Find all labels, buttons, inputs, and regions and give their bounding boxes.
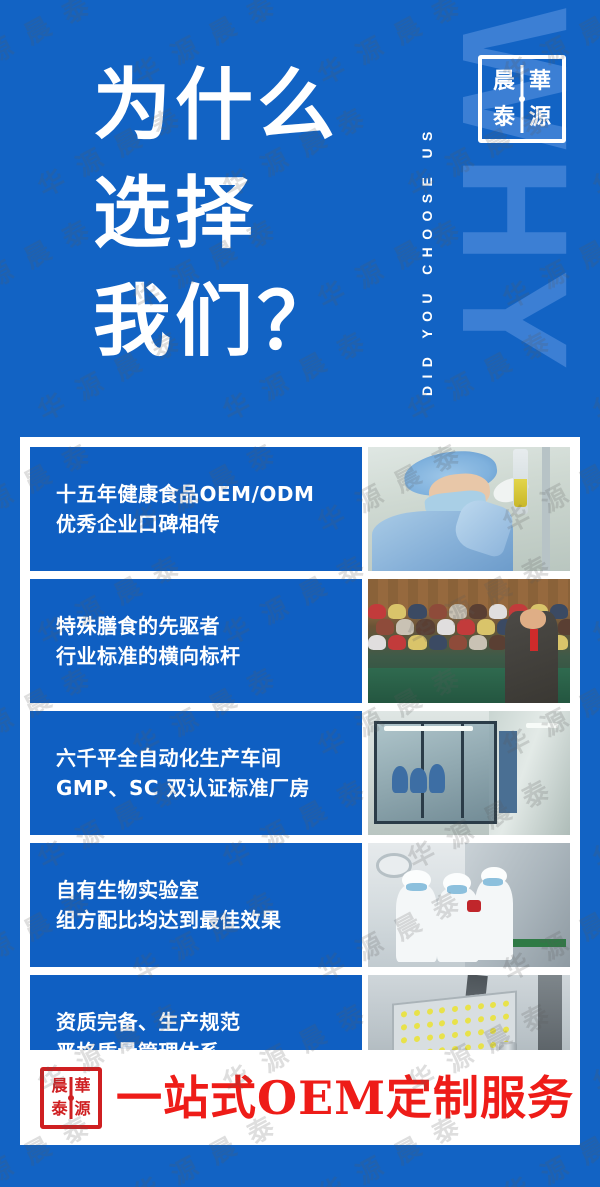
reason-line: 特殊膳食的先驱者 bbox=[56, 611, 362, 641]
reason-text-card: 十五年健康食品OEM/ODM 优秀企业口碑相传 bbox=[30, 447, 362, 571]
seal-center-dot bbox=[68, 1095, 74, 1101]
seal-char-hua: 華 bbox=[71, 1075, 94, 1098]
reason-text-card: 六千平全自动化生产车间 GMP、SC 双认证标准厂房 bbox=[30, 711, 362, 835]
reason-line: 组方配比均达到最佳效果 bbox=[56, 905, 362, 935]
reason-line: 六千平全自动化生产车间 bbox=[56, 743, 362, 773]
page-title-line-1: 为什么 bbox=[93, 52, 393, 160]
reason-line: 十五年健康食品OEM/ODM bbox=[56, 479, 362, 509]
seal-char-chen: 晨 bbox=[486, 63, 522, 99]
reason-text-card: 特殊膳食的先驱者 行业标准的横向标杆 bbox=[30, 579, 362, 703]
hero-section: 为什么 选择 我们？ DID YOU CHOOSE US 華 源 晨 泰 bbox=[0, 0, 600, 437]
reason-text-card: 自有生物实验室 组方配比均达到最佳效果 bbox=[30, 843, 362, 967]
seal-column-left: 晨 泰 bbox=[486, 63, 522, 135]
reason-row: 十五年健康食品OEM/ODM 优秀企业口碑相传 bbox=[30, 447, 570, 571]
service-banner: 華 源 晨 泰 一站式OEM定制服务 bbox=[20, 1050, 580, 1145]
page-title-line-3: 我们？ bbox=[93, 268, 393, 376]
reason-line: 资质完备、生产规范 bbox=[56, 1007, 362, 1037]
reasons-panel: 十五年健康食品OEM/ODM 优秀企业口碑相传 特殊膳食的先驱者 行业标准的横向… bbox=[20, 437, 580, 1145]
brand-seal-logo: 華 源 晨 泰 bbox=[478, 55, 566, 143]
cleanroom-corridor-photo bbox=[368, 711, 570, 835]
reason-line: 行业标准的横向标杆 bbox=[56, 641, 362, 671]
seal-frame-red: 華 源 晨 泰 bbox=[40, 1067, 102, 1129]
service-banner-text: 一站式OEM定制服务 bbox=[116, 1075, 574, 1121]
vertical-tagline: DID YOU CHOOSE US bbox=[393, 8, 453, 398]
reason-row: 特殊膳食的先驱者 行业标准的横向标杆 bbox=[30, 579, 570, 703]
reason-line: GMP、SC 双认证标准厂房 bbox=[56, 773, 362, 803]
seal-char-tai: 泰 bbox=[486, 99, 522, 135]
conference-audience-photo bbox=[368, 579, 570, 703]
poster-root: WHY 为什么 选择 我们？ DID YOU CHOOSE US 華 源 晨 泰 bbox=[0, 0, 600, 1187]
seal-char-yuan: 源 bbox=[522, 99, 558, 135]
production-line-workers-photo bbox=[368, 843, 570, 967]
seal-char-hua: 華 bbox=[522, 63, 558, 99]
page-title-line-2: 选择 bbox=[93, 160, 393, 268]
seal-char-tai: 泰 bbox=[48, 1098, 71, 1121]
brand-seal-logo-red: 華 源 晨 泰 bbox=[40, 1067, 102, 1129]
reasons-list: 十五年健康食品OEM/ODM 优秀企业口碑相传 特殊膳食的先驱者 行业标准的横向… bbox=[30, 447, 570, 1099]
lab-technician-photo bbox=[368, 447, 570, 571]
reason-line: 优秀企业口碑相传 bbox=[56, 509, 362, 539]
reason-row: 自有生物实验室 组方配比均达到最佳效果 bbox=[30, 843, 570, 967]
seal-frame: 華 源 晨 泰 bbox=[478, 55, 566, 143]
reason-line: 自有生物实验室 bbox=[56, 875, 362, 905]
seal-center-dot bbox=[519, 96, 525, 102]
seal-column-right: 華 源 bbox=[522, 63, 558, 135]
seal-char-chen: 晨 bbox=[48, 1075, 71, 1098]
reason-row: 六千平全自动化生产车间 GMP、SC 双认证标准厂房 bbox=[30, 711, 570, 835]
seal-column-right: 華 源 bbox=[71, 1075, 94, 1121]
vertical-tagline-text: DID YOU CHOOSE US bbox=[419, 124, 435, 396]
seal-char-yuan: 源 bbox=[71, 1098, 94, 1121]
page-title: 为什么 选择 我们？ bbox=[93, 52, 393, 376]
